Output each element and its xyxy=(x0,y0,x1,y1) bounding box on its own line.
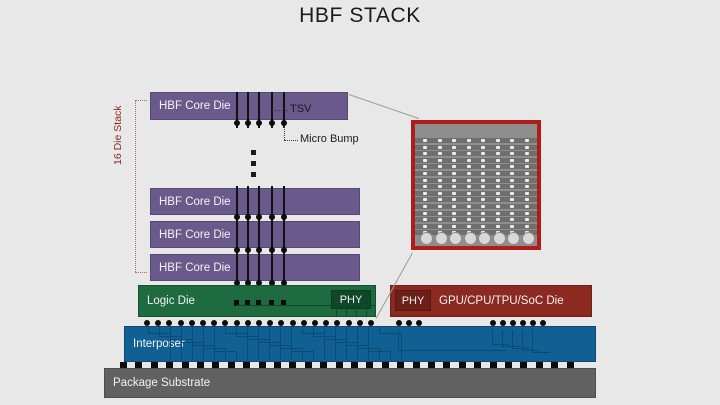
micrograph-tsv-dot xyxy=(452,192,456,195)
micrograph-tsv-dot xyxy=(438,225,442,228)
micrograph-tsv-dot xyxy=(452,185,456,188)
interposer-trace xyxy=(390,351,391,360)
interposer-trace xyxy=(368,327,369,351)
interposer: Interposer xyxy=(124,326,596,362)
hbf-core-die-label: HBF Core Die xyxy=(151,100,231,112)
micrograph-tsv-dot xyxy=(438,212,442,215)
micrograph-tsv-dot xyxy=(438,198,442,201)
micrograph-die-layer xyxy=(415,224,537,229)
micrograph-tsv-dot xyxy=(510,192,514,195)
micrograph-tsv-dot xyxy=(481,225,485,228)
micrograph-die-layer xyxy=(415,164,537,169)
micrograph-die-layer xyxy=(415,197,537,202)
interposer-trace xyxy=(258,327,259,342)
micrograph-tsv-dot xyxy=(481,146,485,149)
micrograph-tsv-dot xyxy=(423,212,427,215)
cross-section-micrograph xyxy=(411,120,541,250)
interposer-trace xyxy=(181,327,182,342)
logic-die-label: Logic Die xyxy=(139,295,195,307)
micro-bump xyxy=(234,214,240,220)
micrograph-tsv-dot xyxy=(423,205,427,208)
micrograph-die-layer xyxy=(415,217,537,222)
micrograph-tsv-dot xyxy=(525,172,529,175)
micro-bump xyxy=(234,120,240,126)
micrograph-tsv-dot xyxy=(467,212,471,215)
micrograph-tsv-dot xyxy=(510,152,514,155)
micrograph-tsv-dot xyxy=(452,212,456,215)
ellipsis-dot xyxy=(251,150,256,155)
micrograph-tsv-dot xyxy=(525,179,529,182)
micrograph-tsv-dot xyxy=(423,218,427,221)
ellipsis-dot xyxy=(251,161,256,166)
micrograph-tsv-dot xyxy=(423,192,427,195)
micrograph-tsv-dot xyxy=(438,218,442,221)
soc-die-phy-block: PHY xyxy=(395,290,431,311)
tsv-leader-line xyxy=(272,110,288,111)
micrograph-tsv-dot xyxy=(510,225,514,228)
phy-label: PHY xyxy=(340,294,363,306)
micrograph-tsv-dot xyxy=(496,172,500,175)
micrograph-tsv-dot xyxy=(481,139,485,142)
micrograph-tsv-dot xyxy=(481,172,485,175)
interposer-trace xyxy=(532,330,533,352)
micrograph-tsv-dot xyxy=(496,152,500,155)
micrograph-tsv-dot xyxy=(481,152,485,155)
micrograph-die-layer xyxy=(415,158,537,163)
micrograph-tsv-dot xyxy=(510,179,514,182)
micrograph-tsv-dot xyxy=(525,212,529,215)
micrograph-tsv-dot xyxy=(496,159,500,162)
micrograph-tsv-dot xyxy=(525,139,529,142)
interposer-trace xyxy=(291,327,292,351)
interposer-trace xyxy=(522,330,523,350)
micrograph-tsv-dot xyxy=(467,185,471,188)
interposer-trace xyxy=(192,327,193,345)
interposer-trace xyxy=(313,351,314,360)
ellipsis-dot xyxy=(251,172,256,177)
micrograph-tsv-dot xyxy=(467,165,471,168)
micrograph-tsv-dot xyxy=(510,205,514,208)
micrograph-tsv-dot xyxy=(467,179,471,182)
micrograph-tsv-dot xyxy=(481,205,485,208)
hbf-core-die-2: HBF Core Die xyxy=(150,221,360,248)
micrograph-tsv-dot xyxy=(438,146,442,149)
micrograph-tsv-dot xyxy=(525,225,529,228)
micrograph-tsv-dot xyxy=(481,218,485,221)
micrograph-tsv-dot xyxy=(467,198,471,201)
micro-bump xyxy=(256,214,262,220)
magnifier-connector-top xyxy=(349,94,419,119)
die-stack-bracket-bottom xyxy=(135,272,147,273)
micrograph-die-layer xyxy=(415,204,537,209)
micrograph-tsv-dot xyxy=(423,185,427,188)
micrograph-tsv-dot xyxy=(525,192,529,195)
micrograph-tsv-dot xyxy=(452,139,456,142)
micrograph-solder-ball xyxy=(435,232,448,245)
micrograph-tsv-dot xyxy=(510,146,514,149)
micrograph-solder-ball xyxy=(420,232,433,245)
micrograph-tsv-dot xyxy=(423,172,427,175)
micro-bump xyxy=(245,120,251,126)
page-title: HBF STACK xyxy=(0,4,720,28)
micrograph-tsv-dot xyxy=(496,218,500,221)
micrograph-tsv-dot xyxy=(525,218,529,221)
interposer-trace xyxy=(225,348,226,360)
logic-die-trace xyxy=(336,305,337,317)
micrograph-tsv-dot xyxy=(423,159,427,162)
micrograph-tsv-dot xyxy=(452,205,456,208)
interposer-trace xyxy=(159,327,160,336)
micrograph-tsv-dot xyxy=(438,179,442,182)
micrograph-tsv-dot xyxy=(423,225,427,228)
micrograph-solder-ball xyxy=(493,232,506,245)
micrograph-tsv-dot xyxy=(452,159,456,162)
micro-bump-leader-vertical xyxy=(284,126,285,140)
micrograph-tsv-dot xyxy=(467,172,471,175)
micrograph-die-layer xyxy=(415,151,537,156)
micrograph-tsv-dot xyxy=(452,225,456,228)
hbf-core-die-label: HBF Core Die xyxy=(151,229,231,241)
micrograph-tsv-dot xyxy=(481,159,485,162)
micrograph-solder-ball xyxy=(449,232,462,245)
micrograph-die-layer xyxy=(415,138,537,143)
micrograph-tsv-dot xyxy=(525,185,529,188)
interposer-trace xyxy=(492,344,510,345)
interposer-trace xyxy=(346,327,347,345)
micro-bump xyxy=(245,247,251,253)
micrograph-die-layer xyxy=(415,211,537,216)
interposer-trace xyxy=(368,351,390,352)
micrograph-tsv-dot xyxy=(423,152,427,155)
hbf-core-die-1: HBF Core Die xyxy=(150,188,360,215)
micrograph-tsv-dot xyxy=(496,139,500,142)
micrograph-tsv-dot xyxy=(467,146,471,149)
hbf-core-die-top: HBF Core Die xyxy=(150,92,348,120)
micrograph-tsv-dot xyxy=(525,146,529,149)
micro-bump xyxy=(245,214,251,220)
micrograph-tsv-dot xyxy=(510,159,514,162)
micrograph-tsv-dot xyxy=(496,192,500,195)
die-stack-label: 16 Die Stack xyxy=(112,105,124,165)
interposer-trace xyxy=(247,327,248,339)
interposer-trace xyxy=(512,348,530,349)
logic-die-phy-block: PHY xyxy=(331,290,371,309)
micro-bump-callout-label: Micro Bump xyxy=(300,133,359,145)
micro-bump xyxy=(269,247,275,253)
interposer-trace xyxy=(313,327,314,336)
micrograph-tsv-dot xyxy=(438,152,442,155)
interposer-trace xyxy=(401,333,402,360)
interposer-trace xyxy=(302,348,303,360)
micrograph-die-layer xyxy=(415,184,537,189)
micro-bump xyxy=(281,214,287,220)
micrograph-tsv-dot xyxy=(496,205,500,208)
micrograph-tsv-dot xyxy=(510,212,514,215)
interposer-trace xyxy=(512,330,513,348)
micrograph-tsv-dot xyxy=(525,205,529,208)
die-stack-bracket-vertical xyxy=(135,100,136,272)
micrograph-tsv-dot xyxy=(423,179,427,182)
micro-bump xyxy=(256,247,262,253)
micrograph-solder-ball xyxy=(507,232,520,245)
hbf-core-die-3: HBF Core Die xyxy=(150,254,360,281)
interposer-trace xyxy=(280,327,281,348)
micrograph-solder-ball xyxy=(522,232,535,245)
micrograph-die-layer xyxy=(415,191,537,196)
hbf-stack-diagram: HBF STACK 16 Die Stack HBF Core Die TSV … xyxy=(0,0,720,405)
micrograph-die-layer xyxy=(415,145,537,150)
logic-die-trace xyxy=(236,305,376,306)
logic-die-trace xyxy=(356,305,357,317)
interposer-trace xyxy=(236,351,237,360)
micrograph-tsv-dot xyxy=(510,218,514,221)
micrograph-tsv-dot xyxy=(496,225,500,228)
micrograph-tsv-dot xyxy=(452,152,456,155)
micrograph-tsv-dot xyxy=(438,159,442,162)
micrograph-tsv-dot xyxy=(438,165,442,168)
micrograph-tsv-dot xyxy=(481,192,485,195)
micrograph-tsv-dot xyxy=(452,179,456,182)
interposer-trace xyxy=(502,346,520,347)
micrograph-tsv-dot xyxy=(452,146,456,149)
micro-bump xyxy=(269,120,275,126)
phy-label: PHY xyxy=(402,295,425,307)
interposer-trace xyxy=(214,327,215,351)
micrograph-tsv-dot xyxy=(438,205,442,208)
micrograph-tsv-dot xyxy=(467,225,471,228)
micrograph-tsv-dot xyxy=(525,152,529,155)
micrograph-tsv-dot xyxy=(496,185,500,188)
micrograph-tsv-dot xyxy=(438,185,442,188)
package-substrate-label: Package Substrate xyxy=(105,377,210,389)
micrograph-tsv-dot xyxy=(467,139,471,142)
interposer-trace xyxy=(170,327,171,339)
package-substrate: Package Substrate xyxy=(104,368,596,398)
interposer-trace xyxy=(214,351,236,352)
micrograph-tsv-dot xyxy=(510,139,514,142)
interposer-trace xyxy=(398,330,399,350)
micrograph-tsv-dot xyxy=(467,218,471,221)
micrograph-tsv-dot xyxy=(496,146,500,149)
micrograph-tsv-dot xyxy=(467,192,471,195)
micrograph-tsv-dot xyxy=(467,152,471,155)
micrograph-tsv-dot xyxy=(496,165,500,168)
micrograph-tsv-dot xyxy=(423,146,427,149)
micrograph-tsv-dot xyxy=(525,159,529,162)
interposer-trace xyxy=(379,348,380,360)
micrograph-tsv-dot xyxy=(525,198,529,201)
interposer-trace xyxy=(269,327,270,345)
interposer-trace xyxy=(532,352,550,353)
micrograph-tsv-dot xyxy=(481,179,485,182)
micrograph-tsv-dot xyxy=(423,139,427,142)
interposer-trace xyxy=(291,351,313,352)
interposer-trace xyxy=(398,350,508,351)
hbf-core-die-label: HBF Core Die xyxy=(151,262,231,274)
micrograph-tsv-dot xyxy=(496,179,500,182)
micro-bump xyxy=(269,214,275,220)
micro-bump xyxy=(256,120,262,126)
micrograph-tsv-dot xyxy=(438,139,442,142)
micrograph-tsv-dot xyxy=(525,165,529,168)
micrograph-tsv-dot xyxy=(481,212,485,215)
hbf-core-die-label: HBF Core Die xyxy=(151,196,231,208)
micro-bump-leader-line xyxy=(284,140,298,141)
interposer-trace xyxy=(357,327,358,348)
interposer-trace xyxy=(492,330,493,344)
micrograph-tsv-dot xyxy=(510,172,514,175)
interposer-trace xyxy=(502,330,503,346)
die-stack-bracket-top xyxy=(135,100,147,101)
micro-bump xyxy=(234,247,240,253)
micrograph-tsv-dot xyxy=(438,172,442,175)
micrograph-die-layer xyxy=(415,178,537,183)
micrograph-tsv-dot xyxy=(496,212,500,215)
tsv-callout-label: TSV xyxy=(290,103,311,115)
logic-die-trace xyxy=(346,305,347,317)
micrograph-tsv-dot xyxy=(496,198,500,201)
micro-bump xyxy=(281,247,287,253)
micrograph-tsv-dot xyxy=(467,205,471,208)
interposer-trace xyxy=(236,327,237,336)
interposer-trace xyxy=(203,327,204,348)
micrograph-tsv-dot xyxy=(438,192,442,195)
micrograph-solder-ball xyxy=(478,232,491,245)
micrograph-tsv-dot xyxy=(481,185,485,188)
interposer-trace xyxy=(324,327,325,339)
micrograph-tsv-dot xyxy=(452,172,456,175)
interposer-trace xyxy=(522,350,540,351)
interposer-trace xyxy=(335,327,336,342)
micrograph-solder-ball xyxy=(464,232,477,245)
micrograph-die-layer xyxy=(415,171,537,176)
micrograph-tsv-dot xyxy=(510,185,514,188)
soc-die: PHY GPU/CPU/TPU/SoC Die xyxy=(390,285,592,317)
logic-die-trace xyxy=(366,305,367,317)
micrograph-tsv-dot xyxy=(467,159,471,162)
micrograph-tsv-dot xyxy=(452,218,456,221)
